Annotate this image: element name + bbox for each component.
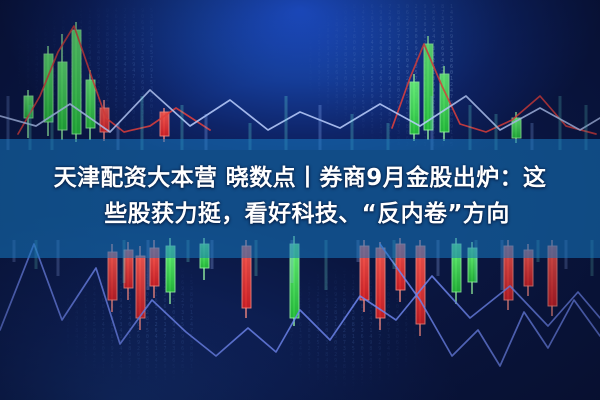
news-banner: 3 7 1 0 4 2 9 5 8 3 1 6 0 4 7 2 9 5 1 9 … [0, 0, 600, 400]
headline-line-1: 天津配资大本营 晓数点丨券商9月金股出炉：这 [0, 160, 600, 196]
headline-line-2: 些股获力挺，看好科技、“反内卷”方向 [0, 196, 600, 232]
headline-text: 天津配资大本营 晓数点丨券商9月金股出炉：这 些股获力挺，看好科技、“反内卷”方… [0, 160, 600, 232]
